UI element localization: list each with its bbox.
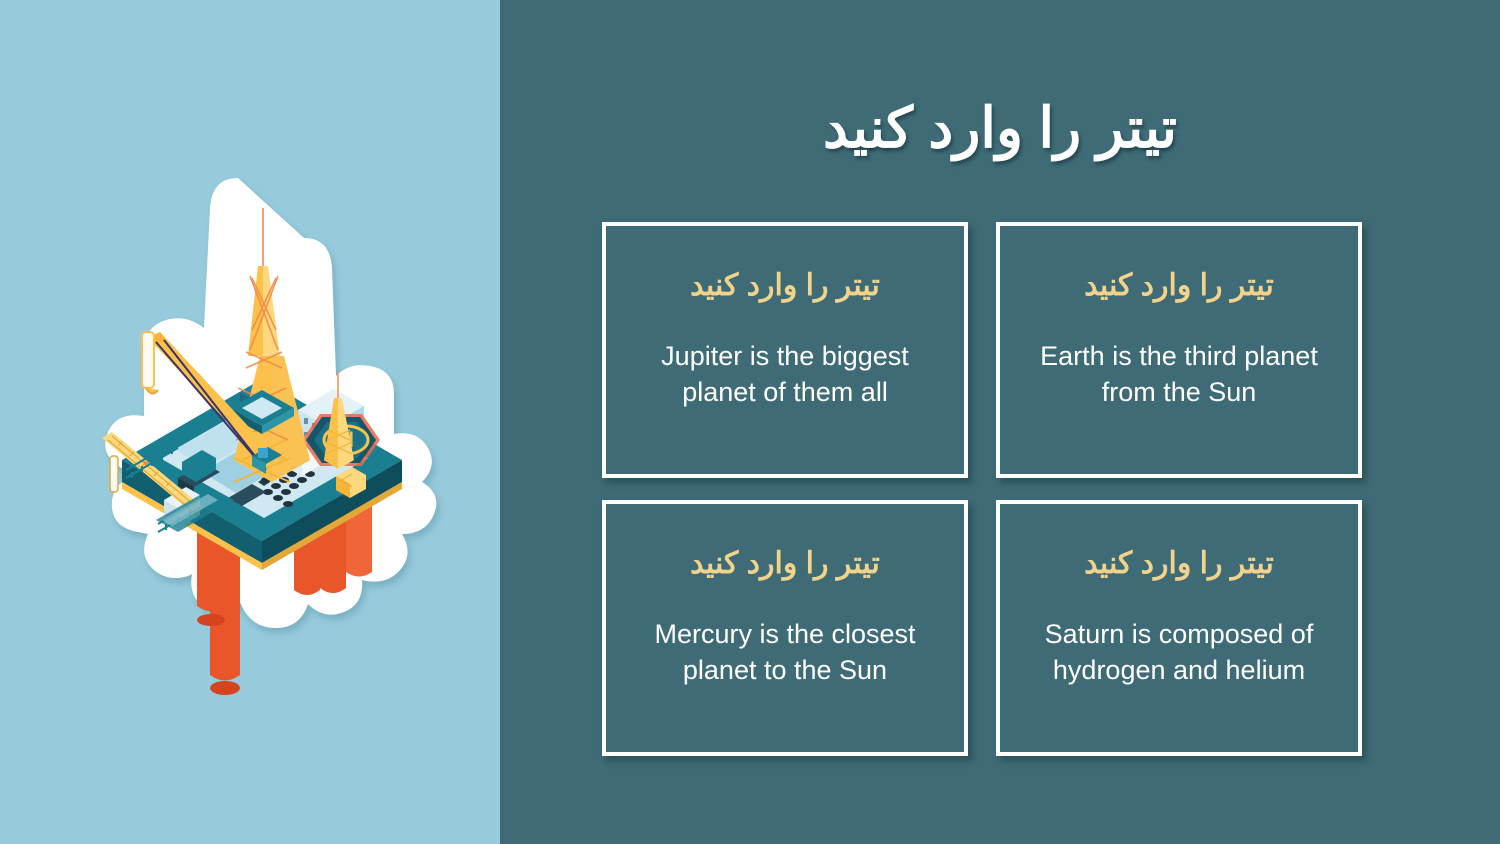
feature-card-grid: تیتر را وارد کنید Jupiter is the biggest… xyxy=(602,222,1362,756)
card-body-3: Mercury is the closest planet to the Sun xyxy=(628,617,942,688)
card-body-1: Jupiter is the biggest planet of them al… xyxy=(628,339,942,410)
page-title: تیتر را وارد کنید xyxy=(500,96,1500,160)
feature-card-4[interactable]: تیتر را وارد کنید Saturn is composed of … xyxy=(996,500,1362,756)
presentation-slide: H xyxy=(0,0,1500,844)
feature-card-3[interactable]: تیتر را وارد کنید Mercury is the closest… xyxy=(602,500,968,756)
left-image-panel: H xyxy=(0,0,500,844)
card-body-4: Saturn is composed of hydrogen and heliu… xyxy=(1022,617,1336,688)
feature-card-1[interactable]: تیتر را وارد کنید Jupiter is the biggest… xyxy=(602,222,968,478)
card-title-3: تیتر را وارد کنید xyxy=(690,544,880,583)
oil-rig-illustration: H xyxy=(52,160,462,700)
card-title-2: تیتر را وارد کنید xyxy=(1084,266,1274,305)
right-content-panel: تیتر را وارد کنید تیتر را وارد کنید Jupi… xyxy=(500,0,1500,844)
card-title-1: تیتر را وارد کنید xyxy=(690,266,880,305)
card-body-2: Earth is the third planet from the Sun xyxy=(1022,339,1336,410)
card-title-4: تیتر را وارد کنید xyxy=(1084,544,1274,583)
feature-card-2[interactable]: تیتر را وارد کنید Earth is the third pla… xyxy=(996,222,1362,478)
